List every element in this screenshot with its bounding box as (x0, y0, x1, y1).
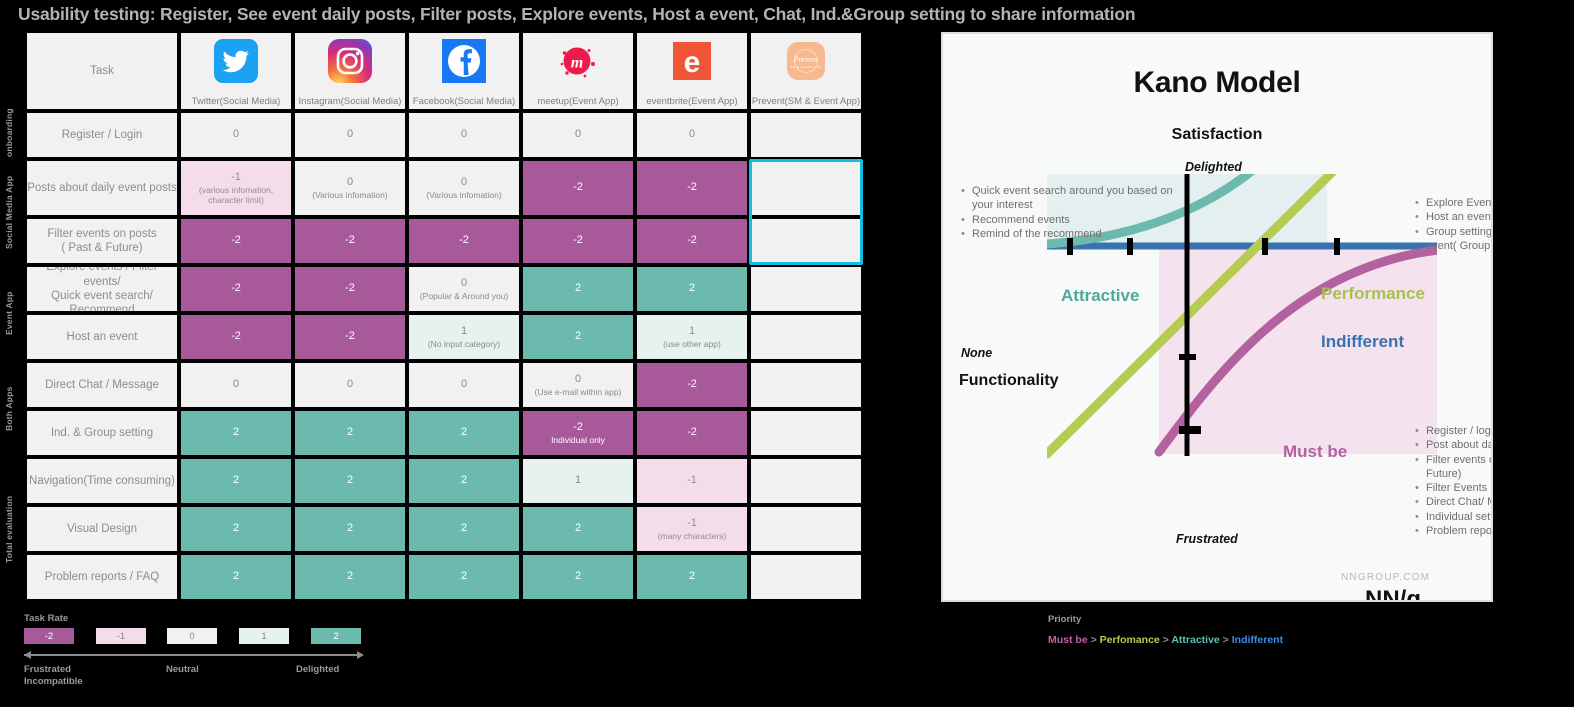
score-value: -2 (231, 282, 241, 296)
task-label: Register / Login (27, 113, 177, 157)
score-value: 2 (233, 426, 239, 440)
score-note: (Various infomation) (426, 190, 501, 200)
column-header-facebook[interactable]: Facebook(Social Media) (409, 33, 519, 109)
score-value: 2 (575, 282, 581, 296)
score-cell-eventbrite[interactable]: 2 (637, 555, 747, 599)
task-label: Direct Chat / Message (27, 363, 177, 407)
task-label: Visual Design (27, 507, 177, 551)
score-value: 2 (347, 474, 353, 488)
score-cell-prevent[interactable] (751, 219, 861, 263)
score-value: 0 (461, 378, 467, 392)
score-cell-instagram[interactable]: 2 (295, 411, 405, 455)
bullet-list: Quick event search around you based on y… (959, 184, 1187, 241)
bullet-item: Direct Chat/ Message (1426, 495, 1493, 509)
score-value: 2 (461, 522, 467, 536)
score-cell-facebook[interactable]: 0 (409, 363, 519, 407)
table-row: Ind. & Group setting222-2Individual only… (27, 411, 865, 459)
score-cell-twitter[interactable]: 2 (181, 507, 291, 551)
score-value: 0 (461, 128, 467, 142)
score-cell-eventbrite[interactable]: 2 (637, 267, 747, 311)
score-value: -2 (345, 330, 355, 344)
score-note: (Use e-mail within app) (535, 387, 622, 397)
score-note: (Various infomation) (312, 190, 387, 200)
priority-separator: > (1220, 634, 1232, 646)
svg-text:m: m (571, 55, 583, 72)
table-row: Explore events / Filter events/Quick eve… (27, 267, 865, 315)
kano-bullets-right-bottom: Register / loginPost about daily eventsF… (1413, 424, 1493, 538)
table-row: Filter events on posts( Past & Future)-2… (27, 219, 865, 267)
bullet-item: Group setting to share favorite event( G… (1426, 225, 1493, 254)
score-cell-instagram[interactable]: -2 (295, 267, 405, 311)
kano-label-delighted: Delighted (1185, 160, 1242, 174)
score-value: 0 (233, 378, 239, 392)
score-cell-instagram[interactable]: 2 (295, 507, 405, 551)
task-rate-axis-labels: Frustrated Incompatible Neutral Delighte… (24, 662, 384, 692)
score-cell-eventbrite[interactable]: -2 (637, 219, 747, 263)
score-cell-eventbrite[interactable]: -1 (637, 459, 747, 503)
axis-label-neutral: Neutral (166, 664, 199, 676)
score-value: -2 (231, 234, 241, 248)
score-value: 2 (575, 522, 581, 536)
meetup-icon: m (556, 39, 600, 88)
score-note: (various infomation, character limit) (181, 185, 291, 206)
task-rate-swatch-0: 0 (167, 628, 217, 644)
score-cell-instagram[interactable]: -2 (295, 219, 405, 263)
score-cell-facebook[interactable]: 0(Popular & Around you) (409, 267, 519, 311)
score-value: -2 (573, 234, 583, 248)
priority-legend: Priority Must be > Perfomance > Attracti… (1048, 614, 1283, 646)
priority-item-3: Indifferent (1232, 634, 1283, 646)
score-value: -2 (345, 282, 355, 296)
score-value: -2 (687, 234, 697, 248)
kano-title: Kano Model (943, 66, 1491, 100)
score-cell-facebook[interactable]: 1(No input category) (409, 315, 519, 359)
score-value: 2 (347, 522, 353, 536)
score-cell-prevent[interactable] (751, 267, 861, 311)
score-value: 2 (461, 474, 467, 488)
score-note: Individual only (551, 435, 605, 445)
axis-bar (24, 654, 358, 656)
score-cell-meetup[interactable]: 2 (523, 315, 633, 359)
bullet-list: Register / loginPost about daily eventsF… (1413, 424, 1493, 538)
score-cell-meetup[interactable]: 1 (523, 459, 633, 503)
score-cell-facebook[interactable]: 2 (409, 411, 519, 455)
score-value: -2 (231, 330, 241, 344)
kano-region-performance: Performance (1321, 284, 1425, 304)
prevent-icon: PreventSM & EVENT APP (784, 39, 828, 88)
bullet-item: Filter Events (1426, 481, 1493, 495)
kano-region-attractive: Attractive (1061, 286, 1139, 306)
score-cell-twitter[interactable]: -2 (181, 267, 291, 311)
score-value: 2 (233, 570, 239, 584)
score-value: 2 (233, 474, 239, 488)
column-header-label: meetup(Event App) (537, 96, 618, 109)
priority-item-0: Must be (1048, 634, 1088, 646)
score-cell-eventbrite[interactable]: -2 (637, 363, 747, 407)
usability-matrix: TaskTwitter(Social Media)Instagram(Socia… (27, 33, 865, 603)
bullet-item: Host an event (1426, 210, 1493, 224)
svg-text:e: e (684, 46, 701, 79)
bullet-item: Individual setting (1426, 510, 1493, 524)
column-header-prevent[interactable]: PreventSM & EVENT APPPrevent(SM & Event … (751, 33, 861, 109)
eventbrite-icon: e (670, 39, 714, 88)
column-header-label: Prevent(SM & Event App) (752, 96, 860, 109)
score-value: 2 (347, 426, 353, 440)
task-label: Posts about daily event posts (27, 161, 177, 215)
score-cell-facebook[interactable]: 2 (409, 555, 519, 599)
kano-bullets-left: Quick event search around you based on y… (959, 184, 1187, 241)
priority-separator: > (1160, 634, 1172, 646)
axis-label-incompatible: Incompatible (24, 676, 83, 688)
column-header-instagram[interactable]: Instagram(Social Media) (295, 33, 405, 109)
score-cell-meetup[interactable]: 2 (523, 267, 633, 311)
score-cell-facebook[interactable]: 2 (409, 459, 519, 503)
kano-source-logo: NN/g (1365, 586, 1421, 602)
score-value: 1 (461, 325, 467, 339)
task-rate-swatch-2: 2 (311, 628, 361, 644)
kano-bullets-right-top: Explore EventsHost an eventGroup setting… (1413, 196, 1493, 253)
score-cell-meetup[interactable]: 0(Use e-mail within app) (523, 363, 633, 407)
score-cell-meetup[interactable]: 2 (523, 507, 633, 551)
score-value: -2 (573, 421, 583, 435)
task-rate-legend: Task Rate -2-1012 Frustrated Incompatibl… (24, 613, 424, 692)
score-value: -2 (573, 181, 583, 195)
score-value: 2 (575, 570, 581, 584)
score-cell-instagram[interactable]: 2 (295, 459, 405, 503)
bullet-item: Problem report / FAQ (1426, 524, 1493, 538)
score-cell-instagram[interactable]: 0(Various infomation) (295, 161, 405, 215)
row-group-label-0: onboarding (4, 113, 14, 157)
bullet-item: Recommend events (972, 213, 1187, 227)
score-value: 0 (347, 128, 353, 142)
svg-text:Prevent: Prevent (793, 55, 819, 64)
score-value: -2 (345, 234, 355, 248)
table-row: Navigation(Time consuming)2221-1 (27, 459, 865, 507)
tick-h3 (1262, 238, 1268, 255)
score-cell-eventbrite[interactable]: -2 (637, 161, 747, 215)
task-rate-swatch--1: -1 (96, 628, 146, 644)
score-value: 2 (461, 426, 467, 440)
score-cell-prevent[interactable] (751, 315, 861, 359)
kano-axis-functionality: Functionality (959, 372, 1059, 390)
score-cell-instagram[interactable]: 0 (295, 113, 405, 157)
priority-item-2: Attractive (1171, 634, 1219, 646)
score-cell-prevent[interactable] (751, 459, 861, 503)
column-header-label: eventbrite(Event App) (646, 96, 737, 109)
task-rate-axis (24, 648, 364, 662)
task-column-header: Task (27, 33, 177, 109)
page-title: Usability testing: Register, See event d… (18, 4, 1418, 25)
score-value: 2 (689, 570, 695, 584)
column-header-meetup[interactable]: mmeetup(Event App) (523, 33, 633, 109)
score-cell-twitter[interactable]: 0 (181, 363, 291, 407)
priority-item-1: Perfomance (1100, 634, 1160, 646)
score-value: 0 (689, 128, 695, 142)
score-value: 0 (461, 277, 467, 291)
kano-model-panel: Kano Model Satisfaction Delighted Frustr… (941, 32, 1493, 602)
score-cell-instagram[interactable]: -2 (295, 315, 405, 359)
column-header-label: Instagram(Social Media) (299, 96, 402, 109)
score-cell-prevent[interactable] (751, 411, 861, 455)
axis-arrow-right-icon (357, 651, 364, 659)
score-value: 0 (233, 128, 239, 142)
priority-legend-title: Priority (1048, 614, 1283, 625)
bullet-item: Explore Events (1426, 196, 1493, 210)
score-note: (use other app) (663, 339, 721, 349)
score-value: -1 (231, 171, 241, 185)
kano-label-none: None (961, 346, 992, 360)
priority-chain: Must be > Perfomance > Attractive > Indi… (1048, 634, 1283, 646)
score-value: -1 (687, 517, 697, 531)
bullet-item: Filter events on posts (Past & Future) (1426, 453, 1493, 482)
score-value: -2 (687, 378, 697, 392)
task-label: Navigation(Time consuming) (27, 459, 177, 503)
score-value: 1 (575, 474, 581, 488)
task-label: Host an event (27, 315, 177, 359)
score-value: 1 (689, 325, 695, 339)
table-row: Problem reports / FAQ22222 (27, 555, 865, 603)
score-cell-facebook[interactable]: 2 (409, 507, 519, 551)
score-cell-twitter[interactable]: 2 (181, 411, 291, 455)
bullet-item: Quick event search around you based on y… (972, 184, 1187, 213)
score-cell-instagram[interactable]: 2 (295, 555, 405, 599)
score-cell-prevent[interactable] (751, 555, 861, 599)
score-cell-twitter[interactable]: 2 (181, 555, 291, 599)
table-row: Visual Design2222-1(many characters) (27, 507, 865, 555)
kano-label-frustrated: Frustrated (1176, 532, 1238, 546)
kano-region-indifferent: Indifferent (1321, 332, 1404, 352)
score-value: 0 (575, 128, 581, 142)
score-cell-twitter[interactable]: -2 (181, 315, 291, 359)
facebook-icon (442, 39, 486, 88)
score-cell-meetup[interactable]: -2 (523, 219, 633, 263)
instagram-icon (328, 39, 372, 88)
score-cell-instagram[interactable]: 0 (295, 363, 405, 407)
score-cell-facebook[interactable]: 0(Various infomation) (409, 161, 519, 215)
score-cell-meetup[interactable]: -2 (523, 161, 633, 215)
svg-text:SM & EVENT APP: SM & EVENT APP (790, 65, 822, 69)
task-rate-swatch--2: -2 (24, 628, 74, 644)
bullet-item: Register / login (1426, 424, 1493, 438)
priority-separator: > (1088, 634, 1100, 646)
table-row: Direct Chat / Message0000(Use e-mail wit… (27, 363, 865, 411)
score-cell-twitter[interactable]: 2 (181, 459, 291, 503)
tick-mid-low (1179, 354, 1196, 360)
row-group-label-2: Event App (4, 267, 14, 359)
column-header-label: Twitter(Social Media) (192, 96, 281, 109)
score-cell-facebook[interactable]: 0 (409, 113, 519, 157)
score-cell-eventbrite[interactable]: 1(use other app) (637, 315, 747, 359)
score-value: 2 (347, 570, 353, 584)
score-value: 0 (575, 373, 581, 387)
score-cell-eventbrite[interactable]: -1(many characters) (637, 507, 747, 551)
table-row: Posts about daily event posts-1(various … (27, 161, 865, 219)
row-group-label-1: Social Media App (4, 161, 14, 263)
score-cell-meetup[interactable]: 0 (523, 113, 633, 157)
axis-label-frustrated: Frustrated (24, 664, 71, 676)
kano-axis-satisfaction: Satisfaction (943, 126, 1491, 144)
table-row: Register / Login00000 (27, 113, 865, 161)
kano-region-must-be: Must be (1283, 442, 1347, 462)
score-value: 0 (347, 176, 353, 190)
axis-arrow-left-icon (24, 651, 31, 659)
task-rate-swatches: -2-1012 (24, 628, 364, 644)
task-label: Explore events / Filter events/Quick eve… (27, 267, 177, 311)
score-value: -2 (459, 234, 469, 248)
score-value: -2 (687, 181, 697, 195)
score-cell-facebook[interactable]: -2 (409, 219, 519, 263)
score-cell-eventbrite[interactable]: -2 (637, 411, 747, 455)
score-cell-prevent[interactable] (751, 507, 861, 551)
score-value: -2 (687, 426, 697, 440)
task-rate-swatch-1: 1 (239, 628, 289, 644)
task-label: Problem reports / FAQ (27, 555, 177, 599)
score-value: 0 (347, 378, 353, 392)
task-label: Filter events on posts( Past & Future) (27, 219, 177, 263)
score-value: 2 (575, 330, 581, 344)
score-cell-meetup[interactable]: -2Individual only (523, 411, 633, 455)
score-cell-twitter[interactable]: 0 (181, 113, 291, 157)
score-value: 2 (461, 570, 467, 584)
bullet-list: Explore EventsHost an eventGroup setting… (1413, 196, 1493, 253)
score-cell-meetup[interactable]: 2 (523, 555, 633, 599)
row-group-label-4: Total evaluation (4, 459, 14, 599)
matrix-header-row: TaskTwitter(Social Media)Instagram(Socia… (27, 33, 865, 113)
task-label: Ind. & Group setting (27, 411, 177, 455)
score-note: (Popular & Around you) (420, 291, 508, 301)
kano-source-site: NNGROUP.COM (1341, 572, 1430, 583)
tick-bottom (1179, 426, 1201, 434)
score-value: 2 (689, 282, 695, 296)
score-cell-prevent[interactable] (751, 161, 861, 215)
score-value: -1 (687, 474, 697, 488)
task-rate-legend-title: Task Rate (24, 613, 424, 624)
score-cell-twitter[interactable]: -1(various infomation, character limit) (181, 161, 291, 215)
score-cell-prevent[interactable] (751, 113, 861, 157)
score-value: 0 (461, 176, 467, 190)
score-cell-twitter[interactable]: -2 (181, 219, 291, 263)
axis-label-delighted: Delighted (296, 664, 339, 676)
column-header-eventbrite[interactable]: eeventbrite(Event App) (637, 33, 747, 109)
bullet-item: Post about daily events (1426, 438, 1493, 452)
score-cell-eventbrite[interactable]: 0 (637, 113, 747, 157)
twitter-icon (214, 39, 258, 88)
table-row: Host an event-2-21(No input category)21(… (27, 315, 865, 363)
score-note: (many characters) (658, 531, 727, 541)
bullet-item: Remind of the recommend (972, 227, 1187, 241)
score-value: 2 (233, 522, 239, 536)
column-header-label: Facebook(Social Media) (413, 96, 515, 109)
tick-h4 (1334, 238, 1340, 255)
row-group-label-3: Both Apps (4, 363, 14, 455)
column-header-twitter[interactable]: Twitter(Social Media) (181, 33, 291, 109)
score-cell-prevent[interactable] (751, 363, 861, 407)
score-note: (No input category) (428, 339, 500, 349)
